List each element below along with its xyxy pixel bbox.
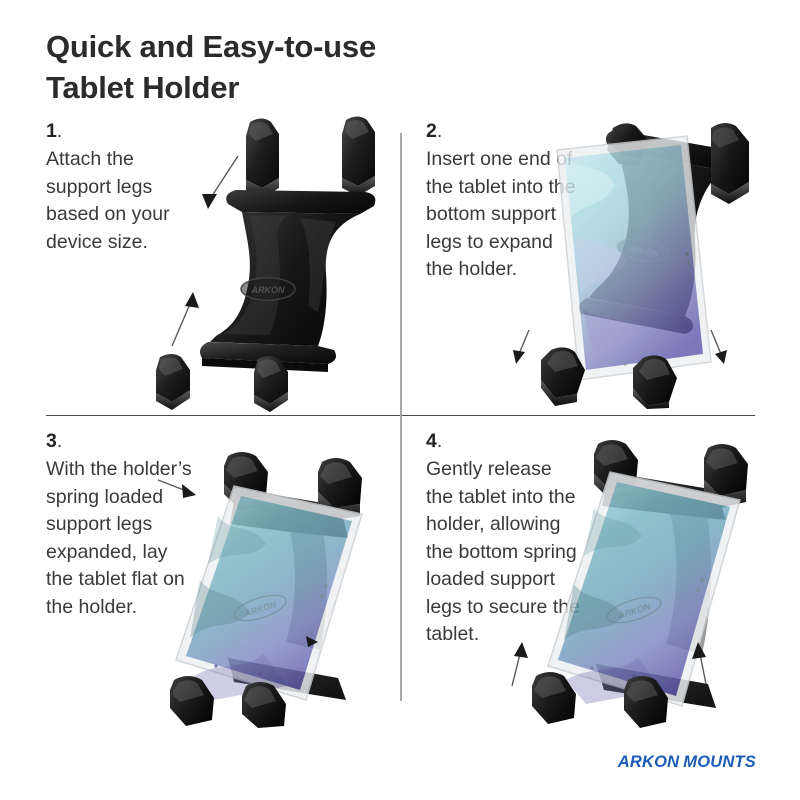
step-3-dot: . (57, 430, 62, 452)
step-4-illustration: ARKON (530, 428, 800, 728)
tablet-device (557, 136, 711, 380)
support-leg-bottom-left (156, 354, 190, 410)
step-3-illustration: ARKON (170, 428, 400, 728)
down-left-arrow (513, 330, 529, 364)
down-right-arrow (711, 330, 727, 364)
step-4-dot: . (437, 430, 442, 452)
step-panel-4: 4. Gently release the tablet into the ho… (400, 428, 800, 728)
step-1-illustration: ARKON (150, 114, 400, 409)
step-4-number: 4 (426, 430, 437, 452)
step-panel-1: 1. Attach the support legs based on your… (0, 118, 400, 415)
step-2-number: 2 (426, 120, 437, 142)
step-panel-3: 3. With the holder’s spring loaded suppo… (0, 428, 400, 728)
infographic-page: Quick and Easy-to-use Tablet Holder 1. A… (0, 0, 800, 800)
support-leg-top-right (711, 123, 749, 204)
step-2-dot: . (437, 120, 442, 142)
brand-name-arkon: ARKON (618, 753, 680, 771)
step-2-illustration: ARKON (515, 114, 800, 409)
support-leg-top-right (342, 117, 375, 197)
brand-logo: ARKONMOUNTS (618, 753, 756, 772)
title-line-2: Tablet Holder (46, 67, 546, 108)
holder-body: ARKON (200, 190, 375, 372)
page-title: Quick and Easy-to-use Tablet Holder (46, 26, 546, 108)
tablet-device: ARKON (548, 472, 740, 706)
step-panel-2: 2. Insert one end of the tablet into the… (400, 118, 800, 415)
step-1-dot: . (57, 120, 62, 142)
tablet-device: ARKON (176, 486, 362, 700)
title-line-1: Quick and Easy-to-use (46, 29, 376, 64)
arkon-badge: ARKON (241, 278, 295, 300)
step-3-number: 3 (46, 430, 57, 452)
svg-text:ARKON: ARKON (251, 285, 285, 295)
up-arrow (172, 292, 199, 346)
step-1-number: 1 (46, 120, 57, 142)
brand-name-mounts: MOUNTS (683, 753, 756, 771)
support-leg-top-left (246, 119, 279, 199)
